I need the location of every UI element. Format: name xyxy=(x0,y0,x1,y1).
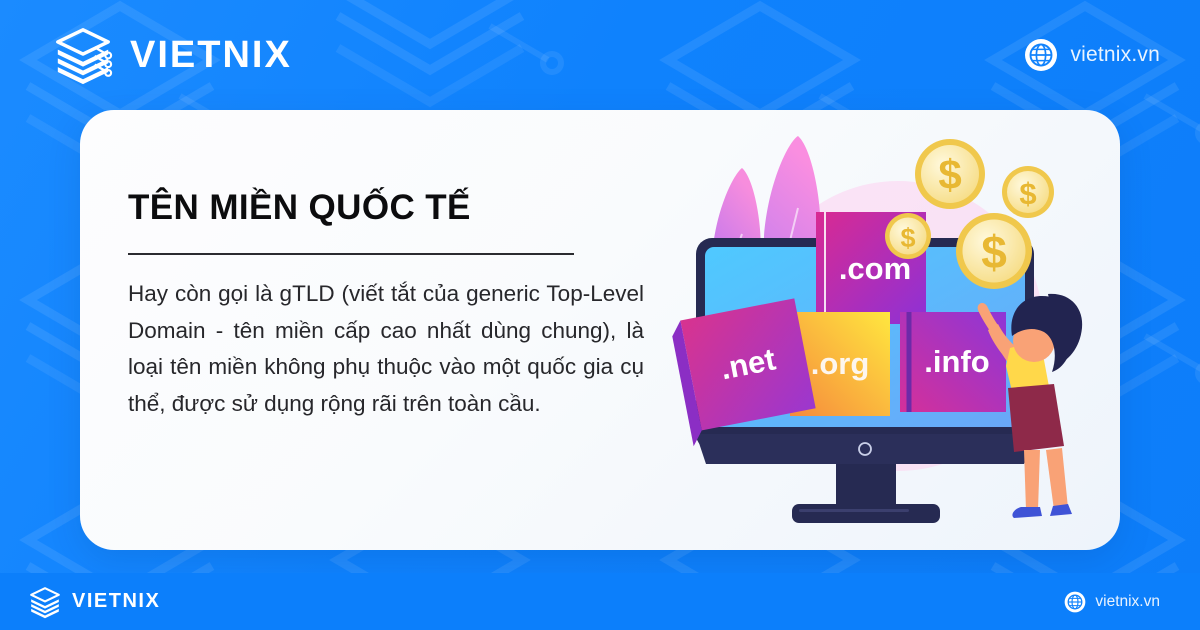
footer-wordmark: VIETNIX xyxy=(72,590,160,613)
coin-large-1: $ xyxy=(915,139,985,209)
content-card: TÊN MIỀN QUỐC TẾ Hay còn gọi là gTLD (vi… xyxy=(80,110,1120,550)
coin-medium-1: $ xyxy=(1002,166,1054,218)
footer-bar: VIETNIX vietnix.vn xyxy=(0,573,1200,630)
header-url-badge[interactable]: vietnix.vn xyxy=(1024,38,1160,72)
header-bar: VIETNIX vietnix.vn xyxy=(0,0,1200,110)
title-divider xyxy=(128,253,574,255)
svg-text:$: $ xyxy=(900,223,915,253)
domain-card-info-label: .info xyxy=(924,344,989,379)
header-url-text: vietnix.vn xyxy=(1070,43,1160,67)
vietnix-stack-logo-icon xyxy=(52,24,114,86)
text-column: TÊN MIỀN QUỐC TẾ Hay còn gọi là gTLD (vi… xyxy=(128,188,648,422)
coin-large-2: $ xyxy=(956,213,1032,289)
globe-icon xyxy=(1064,591,1086,613)
vietnix-stack-logo-icon xyxy=(28,585,62,619)
footer-url-badge[interactable]: vietnix.vn xyxy=(1064,591,1160,613)
body-paragraph: Hay còn gọi là gTLD (viết tắt của generi… xyxy=(128,276,644,422)
footer-brand[interactable]: VIETNIX xyxy=(28,585,160,619)
coin-small-1: $ xyxy=(885,213,931,259)
svg-text:$: $ xyxy=(1019,176,1036,211)
header-brand[interactable]: VIETNIX xyxy=(52,24,292,86)
svg-text:$: $ xyxy=(938,151,961,198)
svg-text:$: $ xyxy=(981,226,1007,278)
domain-registration-illustration: .com .org .info .net xyxy=(672,116,1102,546)
footer-url-text: vietnix.vn xyxy=(1095,593,1160,611)
brand-wordmark: VIETNIX xyxy=(130,36,292,74)
page-title: TÊN MIỀN QUỐC TẾ xyxy=(128,188,648,227)
domain-card-org-label: .org xyxy=(811,346,870,381)
globe-icon xyxy=(1024,38,1058,72)
poster-canvas: VIETNIX vietnix.vn TÊN MIỀN QUỐC TẾ Hay … xyxy=(0,0,1200,630)
